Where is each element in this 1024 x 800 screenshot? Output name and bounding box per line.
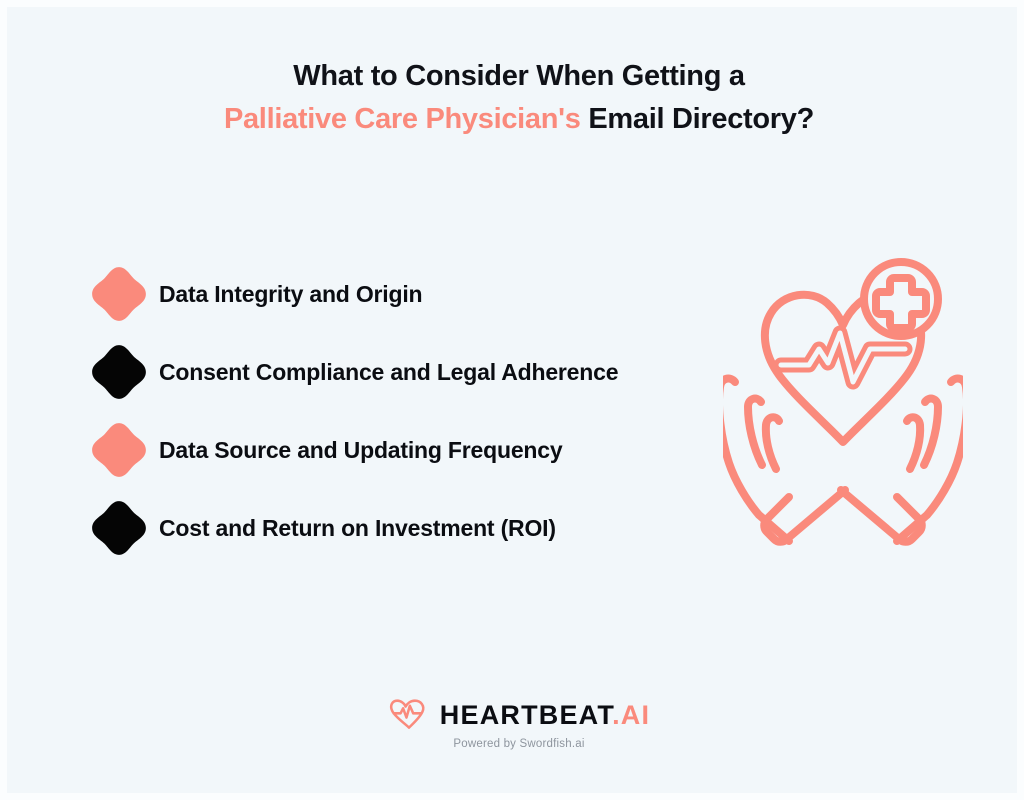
logo-tagline: Powered by Swordfish.ai [453, 738, 584, 750]
heartbeat-heart-icon [388, 699, 430, 731]
logo-suffix-text: .AI [612, 700, 650, 730]
list-item: Cost and Return on Investment (ROI) [91, 489, 731, 567]
squircle-bullet-icon [91, 344, 147, 400]
squircle-bullet-icon [91, 422, 147, 478]
consideration-list: Data Integrity and Origin Consent Compli… [91, 255, 731, 567]
logo-wordmark: HEARTBEAT.AI [440, 702, 650, 729]
list-item: Consent Compliance and Legal Adherence [91, 333, 731, 411]
footer-logo: HEARTBEAT.AI Powered by Swordfish.ai [7, 699, 1024, 750]
list-item-label: Consent Compliance and Legal Adherence [159, 359, 618, 386]
heart-in-hands-illustration [723, 247, 963, 557]
squircle-bullet-icon [91, 500, 147, 556]
list-item-label: Data Integrity and Origin [159, 281, 422, 308]
squircle-bullet-icon [91, 266, 147, 322]
title-accent-text: Palliative Care Physician's [224, 103, 581, 135]
logo-row: HEARTBEAT.AI [388, 699, 650, 731]
list-item-label: Cost and Return on Investment (ROI) [159, 515, 556, 542]
title-line-1: What to Consider When Getting a [7, 55, 1024, 98]
list-item: Data Source and Updating Frequency [91, 411, 731, 489]
list-item-label: Data Source and Updating Frequency [159, 437, 562, 464]
page-title: What to Consider When Getting a Palliati… [7, 55, 1024, 141]
list-item: Data Integrity and Origin [91, 255, 731, 333]
title-line-2: Palliative Care Physician's Email Direct… [7, 98, 1024, 141]
logo-name-text: HEARTBEAT [440, 700, 612, 730]
infographic-canvas: What to Consider When Getting a Palliati… [0, 0, 1024, 800]
title-rest-text: Email Directory? [581, 103, 814, 135]
